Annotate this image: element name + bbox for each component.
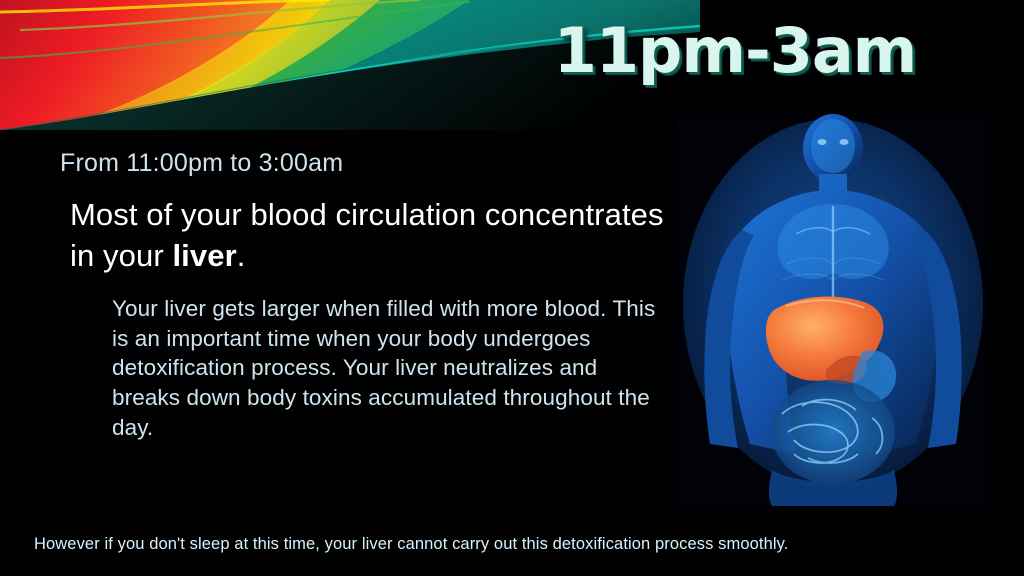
detail-paragraph: Your liver gets larger when filled with … xyxy=(50,294,665,442)
main-statement: Most of your blood circulation concentra… xyxy=(50,195,665,276)
main-statement-emphasis: liver xyxy=(172,238,236,273)
body-text-column: From 11:00pm to 3:00am Most of your bloo… xyxy=(50,148,665,442)
main-statement-suffix: . xyxy=(237,238,246,273)
main-statement-prefix: Most of your blood circulation concentra… xyxy=(70,197,664,272)
anatomy-image xyxy=(676,114,989,506)
footer-note: However if you don't sleep at this time,… xyxy=(34,535,994,554)
slide-canvas: 11pm-3am From 11:00pm to 3:00am Most of … xyxy=(0,0,1024,576)
slide-title: 11pm-3am xyxy=(455,18,1015,83)
time-range-label: From 11:00pm to 3:00am xyxy=(50,148,665,179)
